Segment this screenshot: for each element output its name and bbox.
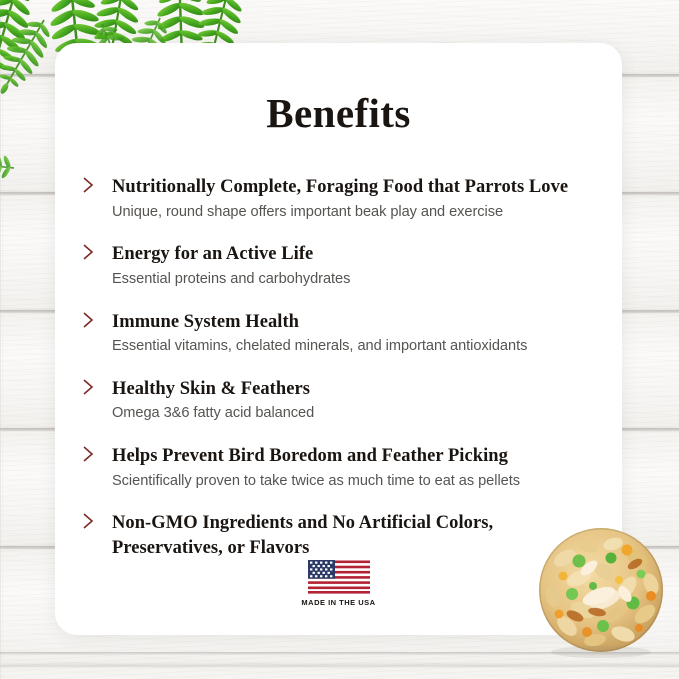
made-in-usa-label: MADE IN THE USA <box>301 598 375 607</box>
benefits-card: Benefits Nutritionally Complete, Foragin… <box>55 43 622 635</box>
parrot-food-ball-icon <box>539 528 677 658</box>
list-item: Immune System Health Essential vitamins,… <box>79 310 600 357</box>
list-item: Non-GMO Ingredients and No Artificial Co… <box>79 511 532 560</box>
benefit-title: Energy for an Active Life <box>112 242 600 267</box>
list-item: Healthy Skin & Feathers Omega 3&6 fatty … <box>79 377 600 424</box>
list-item: Helps Prevent Bird Boredom and Feather P… <box>79 444 600 491</box>
chevron-right-icon <box>81 445 96 463</box>
promo-graphic: Benefits Nutritionally Complete, Foragin… <box>0 0 679 679</box>
chevron-right-icon <box>81 243 96 261</box>
benefit-title: Healthy Skin & Feathers <box>112 377 600 402</box>
list-item: Nutritionally Complete, Foraging Food th… <box>79 175 600 222</box>
benefit-title: Helps Prevent Bird Boredom and Feather P… <box>112 444 600 469</box>
benefit-subtitle: Omega 3&6 fatty acid balanced <box>112 404 600 424</box>
benefit-subtitle: Unique, round shape offers important bea… <box>112 203 600 223</box>
page-title: Benefits <box>55 89 622 137</box>
benefit-subtitle: Scientifically proven to take twice as m… <box>112 472 600 492</box>
chevron-right-icon <box>81 512 96 530</box>
made-in-usa-badge: MADE IN THE USA <box>55 560 622 607</box>
benefit-title: Nutritionally Complete, Foraging Food th… <box>112 175 600 200</box>
chevron-right-icon <box>81 378 96 396</box>
benefit-subtitle: Essential proteins and carbohydrates <box>112 270 600 290</box>
usa-flag-icon <box>308 560 370 594</box>
chevron-right-icon <box>81 311 96 329</box>
chevron-right-icon <box>81 176 96 194</box>
list-item: Energy for an Active Life Essential prot… <box>79 242 600 289</box>
benefit-title: Immune System Health <box>112 310 600 335</box>
benefit-title: Non-GMO Ingredients and No Artificial Co… <box>112 511 532 560</box>
benefit-subtitle: Essential vitamins, chelated minerals, a… <box>112 337 600 357</box>
benefits-list: Nutritionally Complete, Foraging Food th… <box>79 175 600 564</box>
